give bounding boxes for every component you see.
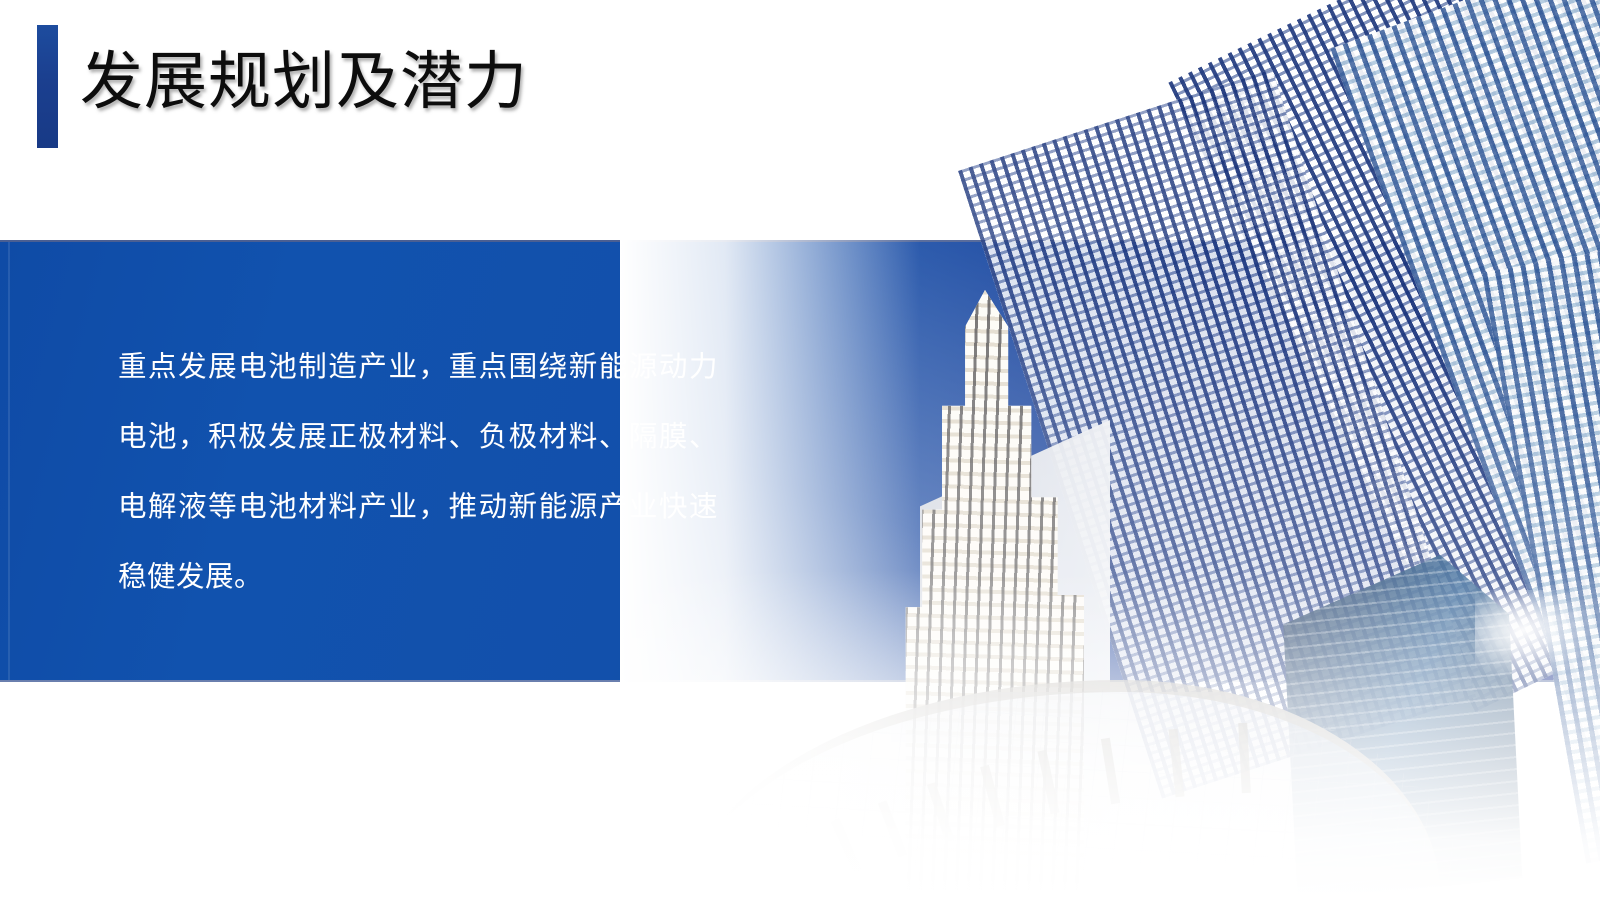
- photo-bottom-fade: [620, 570, 1600, 900]
- slide-header: 发展规划及潜力: [0, 0, 1000, 180]
- title-accent-bar: [37, 25, 58, 148]
- page-title: 发展规划及潜力: [80, 36, 528, 128]
- slide-canvas: 重点发展电池制造产业，重点围绕新能源动力电池，积极发展正极材料、负极材料、隔膜、…: [0, 0, 1600, 900]
- panel-left-edge: [8, 242, 10, 680]
- panel-body-text: 重点发展电池制造产业，重点围绕新能源动力电池，积极发展正极材料、负极材料、隔膜、…: [118, 332, 718, 612]
